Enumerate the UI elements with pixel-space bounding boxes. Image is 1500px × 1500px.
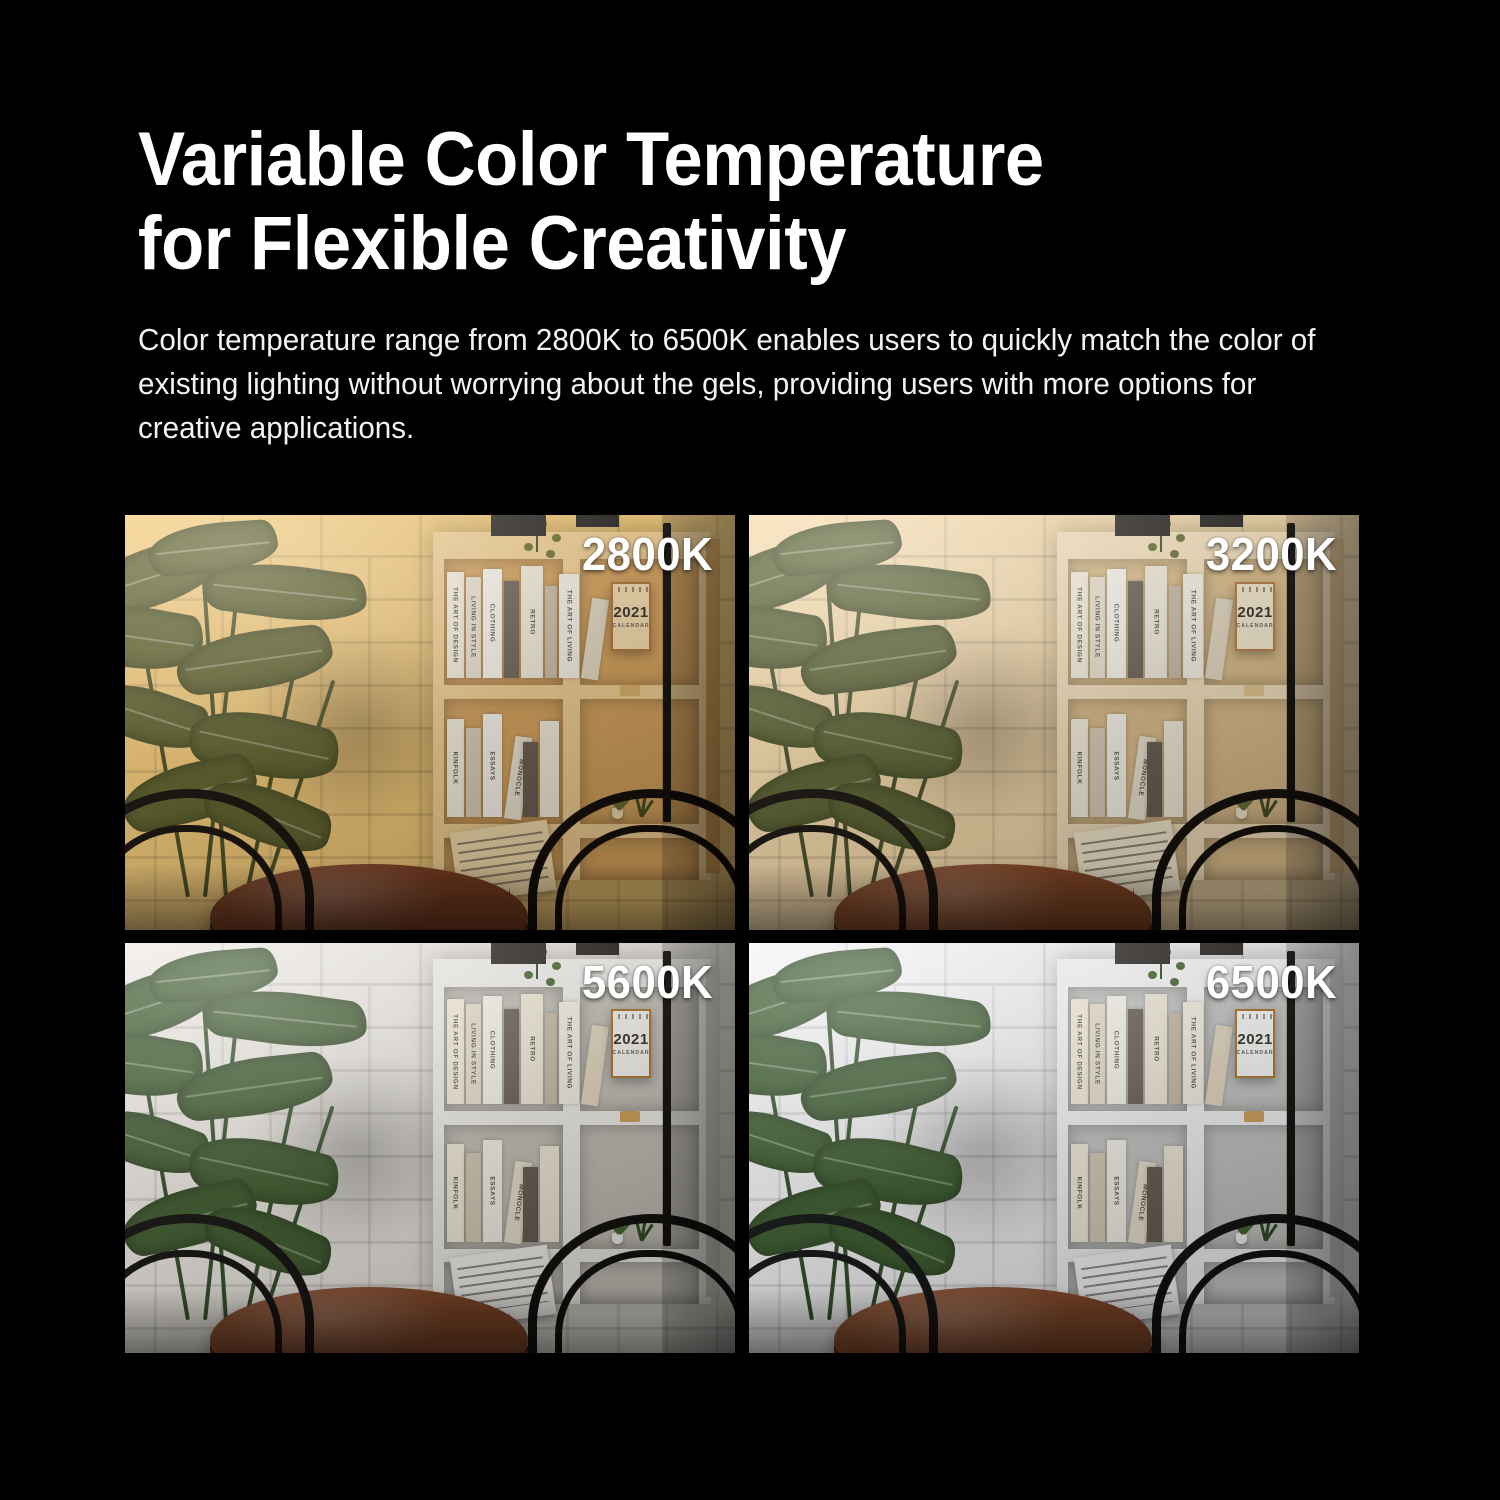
photo-panel-3200k[interactable]: THE ART OF DESIGN LIVING IN STYLE CLOTHI… (749, 515, 1359, 930)
photo-panel-2800k[interactable]: THE ART OF DESIGN LIVING IN STYLE CLOTHI… (125, 515, 735, 930)
photo-panel-5600k[interactable]: THE ART OF DESIGN LIVING IN STYLE CLOTHI… (125, 943, 735, 1353)
kelvin-label: 6500K (1206, 959, 1337, 1005)
kelvin-label: 3200K (1206, 531, 1337, 577)
photo-panel-6500k[interactable]: THE ART OF DESIGN LIVING IN STYLE CLOTHI… (749, 943, 1359, 1353)
kelvin-label: 2800K (582, 531, 713, 577)
kelvin-label: 5600K (582, 959, 713, 1005)
product-feature-slide: Variable Color Temperature for Flexible … (0, 0, 1500, 1500)
description-paragraph: Color temperature range from 2800K to 65… (138, 286, 1326, 450)
copy-block: Variable Color Temperature for Flexible … (138, 118, 1368, 450)
color-temperature-gallery: THE ART OF DESIGN LIVING IN STYLE CLOTHI… (125, 515, 1372, 1353)
page-title: Variable Color Temperature for Flexible … (138, 118, 1282, 286)
